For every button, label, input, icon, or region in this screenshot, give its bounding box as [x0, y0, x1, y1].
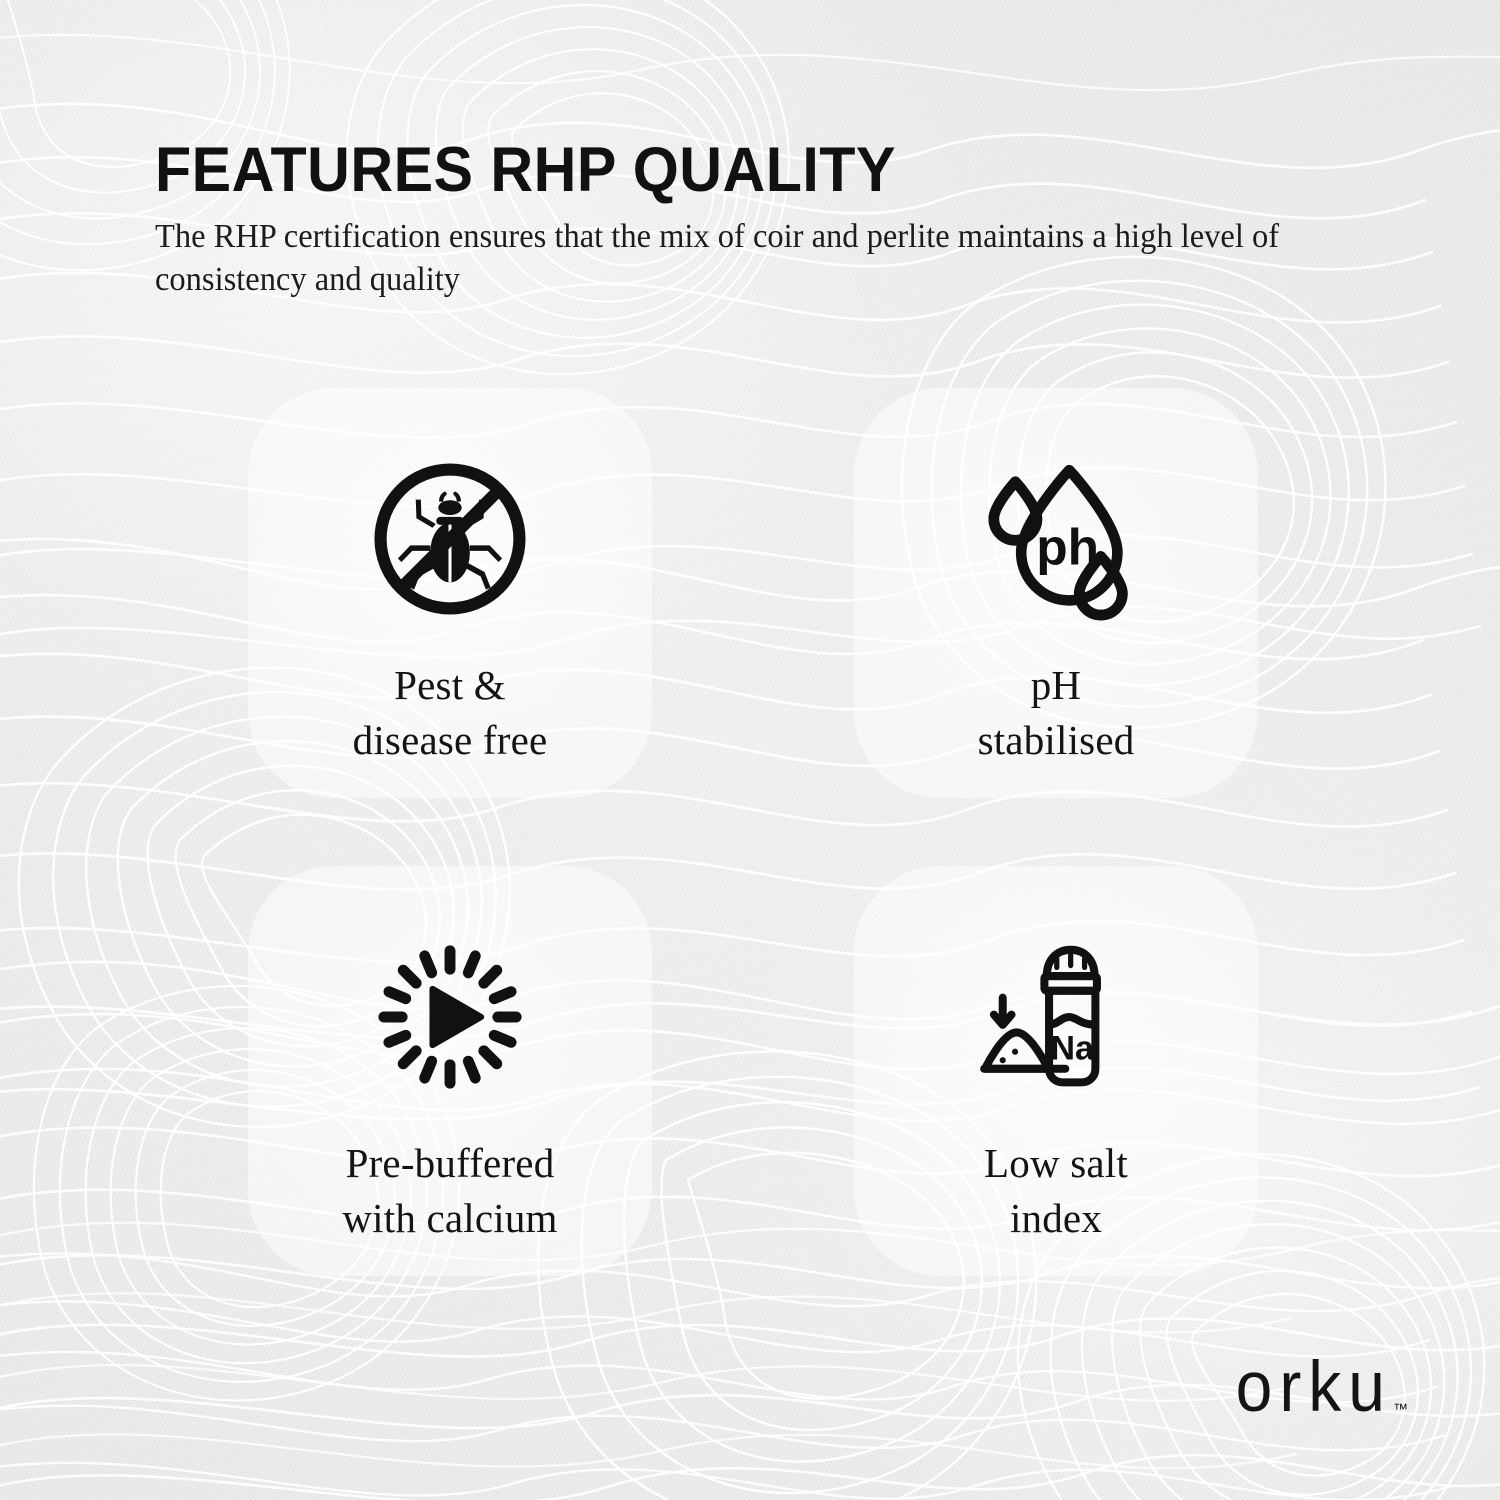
salt-icon-text: Na: [1050, 1029, 1095, 1067]
feature-label-line2: with calcium: [342, 1191, 557, 1246]
no-pest-icon: [370, 454, 530, 624]
feature-label-line2: index: [984, 1191, 1128, 1246]
page-title: FEATURES RHP QUALITY: [155, 138, 1292, 202]
infographic-page: FEATURES RHP QUALITY The RHP certificati…: [0, 0, 1500, 1500]
buffering-play-icon: [374, 932, 526, 1102]
feature-label-pest-disease-free: Pest & disease free: [353, 658, 548, 768]
trademark-symbol: ™: [1393, 1401, 1408, 1418]
header: FEATURES RHP QUALITY The RHP certificati…: [155, 138, 1365, 302]
feature-label-pre-buffered: Pre-buffered with calcium: [342, 1136, 557, 1246]
feature-label-line1: Pre-buffered: [346, 1140, 555, 1186]
feature-label-line1: Pest &: [394, 662, 506, 708]
feature-label-line2: stabilised: [978, 713, 1135, 768]
brand-logo: orku ™: [1236, 1356, 1408, 1422]
feature-label-line1: Low salt: [984, 1140, 1128, 1186]
feature-grid: Pest & disease free: [248, 388, 1258, 1288]
feature-card-pre-buffered[interactable]: Pre-buffered with calcium: [248, 866, 652, 1276]
page-subtitle: The RHP certification ensures that the m…: [155, 216, 1309, 302]
brand-logo-wordmark: orku: [1236, 1351, 1392, 1422]
ph-icon-text: ph: [1036, 518, 1099, 576]
feature-label-low-salt-index: Low salt index: [984, 1136, 1128, 1246]
low-salt-shaker-icon: Na: [971, 932, 1141, 1102]
feature-label-line2: disease free: [353, 713, 548, 768]
feature-label-line1: pH: [1031, 662, 1082, 708]
feature-card-ph-stabilised[interactable]: ph pH stabilised: [854, 388, 1258, 798]
feature-card-pest-disease-free[interactable]: Pest & disease free: [248, 388, 652, 798]
ph-droplet-icon: ph: [978, 454, 1134, 624]
feature-card-low-salt-index[interactable]: Na Low salt index: [854, 866, 1258, 1276]
feature-label-ph-stabilised: pH stabilised: [978, 658, 1135, 768]
